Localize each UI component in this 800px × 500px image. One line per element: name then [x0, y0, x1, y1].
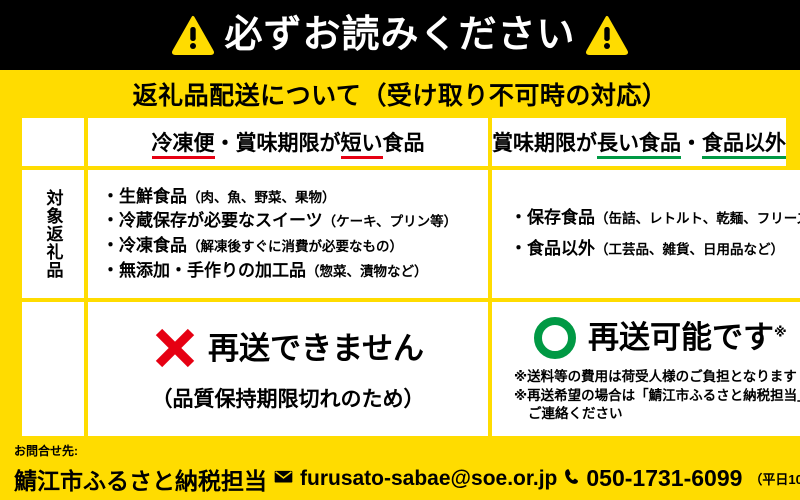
contact-hours: （平日10:00-17:00対応） [749, 469, 800, 488]
contact-organization: 鯖江市ふるさと納税担当 [14, 462, 267, 496]
list-item: ・冷蔵保存が必要なスイーツ（ケーキ、プリン等） [102, 212, 482, 231]
left-heading-underlined-2: 短い [341, 132, 383, 159]
left-heading-tail: 食品 [383, 132, 425, 155]
list-item-note: （惣菜、漬物など） [306, 264, 428, 279]
warning-triangle-icon [586, 15, 628, 55]
column-header-right: 賞味期限が長い食品・食品以外 [492, 118, 786, 166]
list-item-main: ・生鮮食品 [102, 187, 187, 206]
warning-triangle-icon [172, 15, 214, 55]
target-items-left-cell: ・生鮮食品（肉、魚、野菜、果物） ・冷蔵保存が必要なスイーツ（ケーキ、プリン等）… [88, 170, 488, 298]
contact-email[interactable]: furusato-sabae@soe.or.jp [300, 467, 557, 491]
list-item-main: ・保存食品 [510, 208, 595, 227]
right-heading-underlined-2: 食品以外 [702, 132, 786, 159]
header-banner: 必ずお読みください [0, 0, 800, 70]
contact-footer: お問合せ先: 鯖江市ふるさと納税担当 furusato-sabae@soe.or… [0, 440, 800, 500]
right-result-text: 再送可能です※ [588, 322, 787, 353]
list-item-note: （ケーキ、プリン等） [323, 214, 457, 229]
list-item-note: （解凍後すぐに消費が必要なもの） [187, 239, 403, 254]
left-result-subtext: （品質保持期限切れのため） [152, 383, 425, 413]
asterisk-mark: ※ [774, 325, 787, 340]
row-label-text: 対象返礼品 [43, 189, 62, 279]
row-label-target-items: 対象返礼品 [22, 170, 84, 298]
response-left-cell: 再送できません （品質保持期限切れのため） [88, 302, 488, 436]
list-item: ・保存食品（缶詰、レトルト、乾麺、フリーズドライ） [510, 209, 800, 228]
table-row: 対象返礼品 ・生鮮食品（肉、魚、野菜、果物） ・冷蔵保存が必要なスイーツ（ケーキ… [22, 170, 778, 298]
list-item-main: ・冷蔵保存が必要なスイーツ [102, 211, 323, 230]
contact-label: お問合せ先: [14, 444, 786, 460]
list-item: ・食品以外（工芸品、雑貨、日用品など） [510, 240, 800, 259]
list-item-note: （工芸品、雑貨、日用品など） [595, 242, 784, 257]
list-item: ・冷凍食品（解凍後すぐに消費が必要なもの） [102, 237, 482, 256]
delivery-policy-table: 冷凍便・賞味期限が短い食品 賞味期限が長い食品・食品以外 対象返礼品 ・生鮮食品… [22, 118, 778, 436]
circle-mark-icon [532, 315, 578, 361]
left-heading-underlined-1: 冷凍便 [152, 132, 215, 159]
right-result-note: ※送料等の費用は荷受人様のご負担となります [514, 369, 800, 386]
list-item-note: （肉、魚、野菜、果物） [187, 190, 336, 205]
left-result-text: 再送できません [208, 333, 424, 364]
column-header-left: 冷凍便・賞味期限が短い食品 [88, 118, 488, 166]
right-heading-underlined-1: 長い食品 [597, 132, 681, 159]
list-item-main: ・無添加・手作りの加工品 [102, 261, 306, 280]
subtitle-text: 返礼品配送について（受け取り不可時の対応） [133, 76, 668, 112]
right-result-label: 再送可能です [588, 320, 774, 355]
left-heading-sep: ・賞味期限が [215, 132, 341, 155]
right-result-note: ご連絡ください [514, 406, 800, 423]
subtitle-band: 返礼品配送について（受け取り不可時の対応） [0, 70, 800, 118]
contact-phone[interactable]: 050-1731-6099 [586, 465, 742, 492]
list-item-main: ・冷凍食品 [102, 236, 187, 255]
list-item-note: （缶詰、レトルト、乾麺、フリーズドライ） [595, 211, 800, 226]
envelope-icon [274, 470, 293, 488]
list-item: ・生鮮食品（肉、魚、野菜、果物） [102, 188, 482, 207]
table-corner-cell [22, 118, 84, 166]
table-row: 受け取り 不可時の対応 再送できません （品質保持期限切れのため） [22, 302, 778, 436]
row-label-undeliverable-response: 受け取り 不可時の対応 [22, 302, 84, 436]
list-item: ・無添加・手作りの加工品（惣菜、漬物など） [102, 262, 482, 281]
page-title: 必ずお読みください [224, 16, 575, 54]
list-item-main: ・食品以外 [510, 239, 595, 258]
right-heading-sep: ・ [681, 132, 702, 155]
right-heading-lead: 賞味期限が [492, 132, 597, 155]
target-items-right-cell: ・保存食品（缶詰、レトルト、乾麺、フリーズドライ） ・食品以外（工芸品、雑貨、日… [492, 170, 800, 298]
right-result-note: ※再送希望の場合は「鯖江市ふるさと納税担当」まで [514, 388, 800, 405]
telephone-icon [564, 468, 579, 490]
response-right-cell: 再送可能です※ ※送料等の費用は荷受人様のご負担となります ※再送希望の場合は「… [492, 302, 800, 436]
cross-mark-icon [152, 325, 198, 371]
table-header-row: 冷凍便・賞味期限が短い食品 賞味期限が長い食品・食品以外 [22, 118, 778, 166]
